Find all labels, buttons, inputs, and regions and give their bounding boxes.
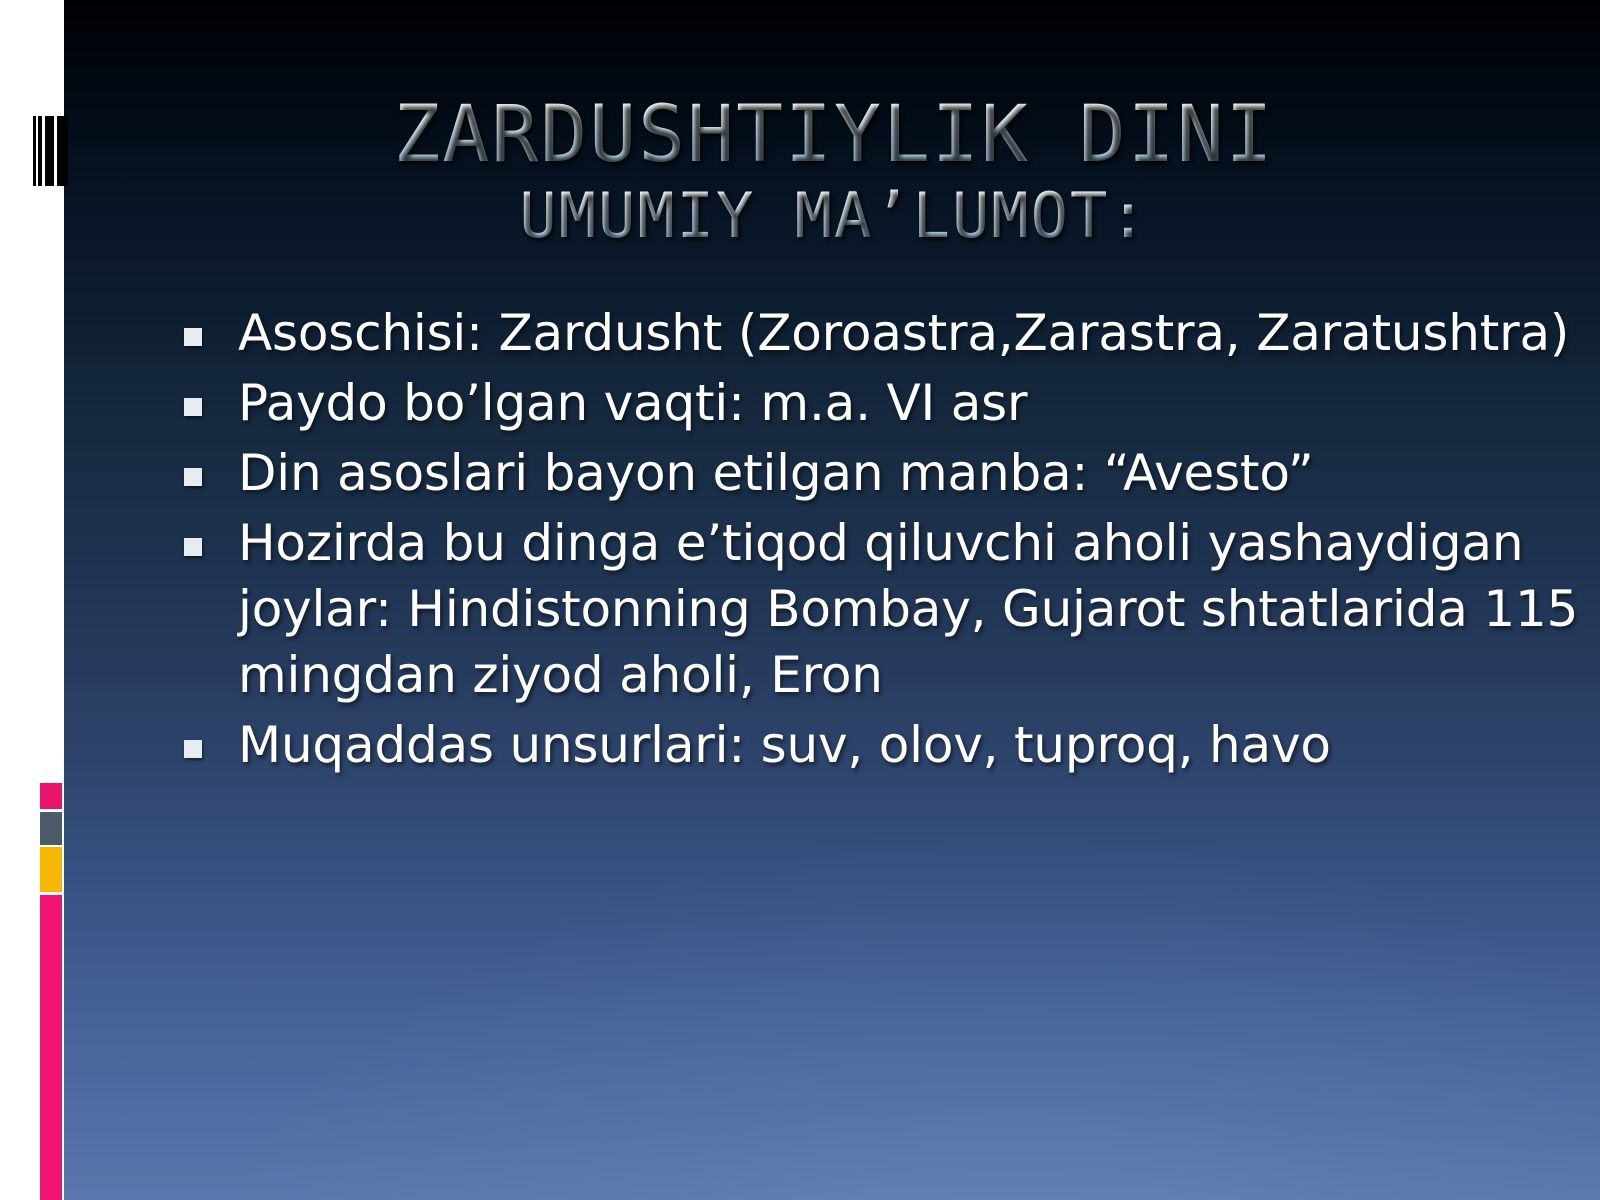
slide-content: ZARDUSHTIYLIK DINI UMUMIY MA’LUMOT: Asos… — [64, 0, 1600, 1200]
list-item: Muqaddas unsurlari: suv, olov, tuproq, h… — [184, 712, 1584, 778]
bullet-text: Asoschisi: Zardusht (Zoroastra,Zarastra,… — [238, 300, 1584, 366]
bullet-text: Din asoslari bayon etilgan manba: “Avest… — [238, 440, 1584, 506]
deco-bar-3 — [45, 116, 54, 186]
list-item: Hozirda bu dinga e’tiqod qiluvchi aholi … — [184, 510, 1584, 708]
bullet-text: Hozirda bu dinga e’tiqod qiluvchi aholi … — [238, 510, 1584, 708]
slide-title-line-1: ZARDUSHTIYLIK DINI — [124, 92, 1544, 178]
bullet-square-icon — [184, 398, 202, 416]
bullet-square-icon — [184, 538, 202, 556]
pink-square-decoration — [40, 783, 62, 809]
slide-title-block: ZARDUSHTIYLIK DINI UMUMIY MA’LUMOT: — [124, 92, 1544, 252]
list-item: Paydo bo’lgan vaqti: m.a. VI asr — [184, 370, 1584, 436]
bullet-text: Paydo bo’lgan vaqti: m.a. VI asr — [238, 370, 1584, 436]
bullet-square-icon — [184, 328, 202, 346]
slate-block-decoration — [40, 812, 62, 845]
bullet-square-icon — [184, 468, 202, 486]
yellow-block-decoration — [40, 847, 62, 892]
slide-title-line-2: UMUMIY MA’LUMOT: — [124, 180, 1544, 252]
list-item: Asoschisi: Zardusht (Zoroastra,Zarastra,… — [184, 300, 1584, 366]
bullet-text: Muqaddas unsurlari: suv, olov, tuproq, h… — [238, 712, 1584, 778]
list-item: Din asoslari bayon etilgan manba: “Avest… — [184, 440, 1584, 506]
bullet-square-icon — [184, 740, 202, 758]
presentation-slide: ZARDUSHTIYLIK DINI UMUMIY MA’LUMOT: Asos… — [0, 0, 1600, 1200]
bullet-list: Asoschisi: Zardusht (Zoroastra,Zarastra,… — [184, 300, 1584, 782]
pink-bar-decoration — [40, 895, 62, 1200]
